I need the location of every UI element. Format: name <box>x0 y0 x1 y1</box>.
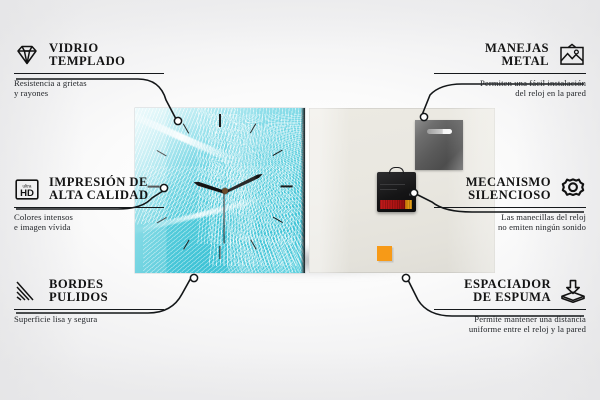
diamond-icon <box>14 44 40 66</box>
feature-manejas-metal: MANEJAS METAL Permiten una fácil instala… <box>434 42 586 99</box>
feature-header: VIDRIO TEMPLADO <box>14 42 164 69</box>
feature-vidrio-templado: VIDRIO TEMPLADO Resistencia a grietas y … <box>14 42 164 99</box>
feature-mecanismo-silencioso: MECANISMO SILENCIOSO Las manecillas del … <box>434 176 586 233</box>
feature-subtitle: Permite mantener una distancia uniforme … <box>434 314 586 335</box>
feature-divider <box>14 207 164 208</box>
feature-subtitle: Colores intensos e imagen vívida <box>14 212 164 233</box>
polished-edges-icon <box>14 280 40 302</box>
feature-divider <box>434 207 586 208</box>
ultra-hd-icon-main-text: HD <box>20 188 34 199</box>
feature-divider <box>14 73 164 74</box>
feature-title: ESPACIADOR DE ESPUMA <box>464 278 551 305</box>
feature-title: IMPRESIÓN DE ALTA CALIDAD <box>49 176 149 203</box>
feature-divider <box>434 309 586 310</box>
callout-dot-espaciador <box>402 274 409 281</box>
feature-header: MECANISMO SILENCIOSO <box>434 176 586 203</box>
callout-dot-bordes <box>190 274 197 281</box>
ultra-hd-icon: ultra HD <box>14 178 40 201</box>
feature-divider <box>14 309 164 310</box>
feature-subtitle: Permiten una fácil instalación del reloj… <box>434 78 586 99</box>
gear-icon <box>560 177 586 201</box>
feature-divider <box>434 73 586 74</box>
foam-spacer-arrow-icon <box>560 279 586 303</box>
callout-dot-vidrio <box>174 117 181 124</box>
feature-subtitle: Resistencia a grietas y rayones <box>14 78 164 99</box>
feature-impresion-alta-calidad: ultra HD IMPRESIÓN DE ALTA CALIDAD Color… <box>14 176 164 233</box>
feature-title: BORDES PULIDOS <box>49 278 108 305</box>
feature-header: ESPACIADOR DE ESPUMA <box>434 278 586 305</box>
feature-bordes-pulidos: BORDES PULIDOS Superficie lisa y segura <box>14 278 164 324</box>
feature-header: ultra HD IMPRESIÓN DE ALTA CALIDAD <box>14 176 164 203</box>
callout-dot-mecanismo <box>410 189 417 196</box>
feature-subtitle: Superficie lisa y segura <box>14 314 164 325</box>
picture-hanger-icon <box>558 43 586 67</box>
callout-dot-manejas <box>420 113 427 120</box>
feature-subtitle: Las manecillas del reloj no emiten ningú… <box>434 212 586 233</box>
feature-espaciador-espuma: ESPACIADOR DE ESPUMA Permite mantener un… <box>434 278 586 335</box>
feature-title: MANEJAS METAL <box>485 42 549 69</box>
feature-header: MANEJAS METAL <box>434 42 586 69</box>
feature-header: BORDES PULIDOS <box>14 278 164 305</box>
feature-title: MECANISMO SILENCIOSO <box>466 176 551 203</box>
feature-title: VIDRIO TEMPLADO <box>49 42 125 69</box>
